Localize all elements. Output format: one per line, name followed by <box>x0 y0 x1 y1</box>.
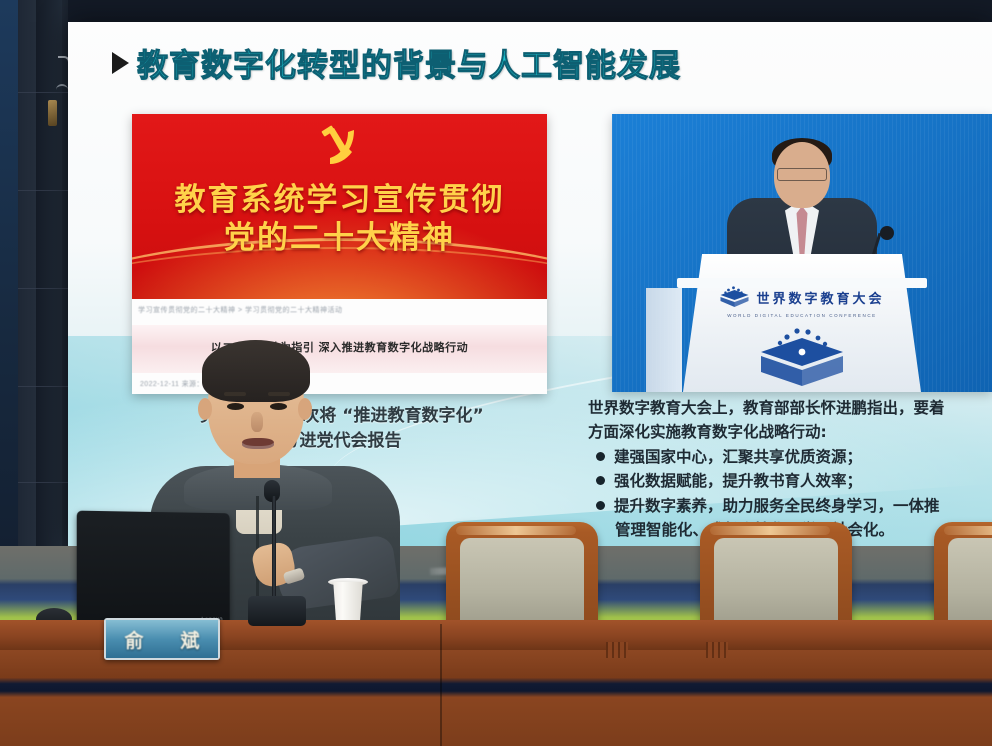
body-bullet-text: 提升数字素养，助力服务全民终身学习，一体推 <box>614 494 940 518</box>
chair-gloss <box>710 526 830 535</box>
presenter-eye <box>227 403 244 410</box>
body-bullet-text: 建强国家中心，汇聚共享优质资源； <box>614 445 862 469</box>
laptop[interactable]: Lenovo <box>77 511 230 630</box>
presenter-ear <box>298 398 312 420</box>
presenter-eyebrow <box>224 392 246 396</box>
podium-text-cn: 世界数字教育大会 <box>756 288 884 307</box>
bullet-dot-icon <box>596 452 605 461</box>
podium-large-logo-icon <box>759 326 845 388</box>
body-intro-line2: 方面深化实施教育数字化战略行动: <box>588 420 992 444</box>
slide-title: 教育数字化转型的背景与人工智能发展 <box>112 40 681 85</box>
pillar-seam <box>18 288 68 289</box>
open-book-network-logo-icon <box>719 286 749 308</box>
poster-red-banner: 教育系统学习宣传贯彻 党的二十大精神 <box>132 114 547 299</box>
slide-title-text: 教育数字化转型的背景与人工智能发展 <box>137 40 681 85</box>
body-bullet-item: 提升数字素养，助力服务全民终身学习，一体推 <box>588 494 992 518</box>
bullet-dot-icon <box>596 476 605 485</box>
body-bullet-item: 强化数据赋能，提升教书育人效率； <box>588 469 992 493</box>
table-seam <box>440 624 442 746</box>
poster-breadcrumb: 学习宣传贯彻党的二十大精神 > 学习贯彻党的二十大精神活动 <box>138 305 342 315</box>
conference-photo: 世界数字教育大会 WORLD DIGITAL EDUCATION CONFERE… <box>612 114 992 392</box>
desk-microphone-stem <box>272 496 276 600</box>
wall-light-fixture <box>48 100 57 126</box>
chair-center <box>700 522 852 628</box>
presenter-mouth <box>242 438 274 449</box>
desk-microphone-base <box>248 596 306 626</box>
photo-microphone-head <box>880 226 894 240</box>
nameplate-surface <box>106 620 218 658</box>
pillar-seam <box>18 386 68 387</box>
presenter-nose <box>251 412 263 432</box>
podium-text-en: WORLD DIGITAL EDUCATION CONFERENCE <box>727 313 877 318</box>
body-intro-line1: 世界数字教育大会上，教育部部长怀进鹏指出，要着 <box>588 396 992 420</box>
table-groove <box>606 642 628 658</box>
glasses-icon <box>777 168 827 181</box>
poster-heading-line2: 党的二十大精神 <box>132 212 547 257</box>
body-bullet-text: 强化数据赋能，提升教书育人效率； <box>614 469 862 493</box>
chair-gloss <box>456 526 576 535</box>
bullet-dot-icon <box>596 501 605 510</box>
nameplate-char-2: 斌 <box>180 626 199 653</box>
presenter-eyebrow <box>268 392 290 396</box>
presenter-hair <box>202 340 310 402</box>
photo-podium-drape <box>646 288 682 392</box>
slide-body-text: 世界数字教育大会上，教育部部长怀进鹏指出，要着 方面深化实施教育数字化战略行动:… <box>588 396 992 543</box>
chair-gloss <box>944 526 992 535</box>
ceiling-hook-icon <box>56 84 68 94</box>
nameplate-char-1: 俞 <box>124 626 143 653</box>
pillar-seam <box>18 190 68 191</box>
chair-left <box>446 522 598 628</box>
nameplate: 俞 斌 <box>104 618 220 660</box>
body-bullet-item: 建强国家中心，汇聚共享优质资源； <box>588 445 992 469</box>
triangle-bullet-icon <box>112 52 129 74</box>
presenter-eye <box>270 403 287 410</box>
table-groove <box>706 642 728 658</box>
chair-right <box>934 522 992 628</box>
presenter-ear <box>198 398 212 420</box>
podium-branding: 世界数字教育大会 <box>719 286 884 308</box>
cpc-hammer-sickle-emblem-icon <box>308 124 372 172</box>
pillar-seam <box>18 482 68 483</box>
screenshot-root: 教育数字化转型的背景与人工智能发展 教育系统学习宣传贯彻 党的二十大精神 学习宣… <box>0 0 992 746</box>
